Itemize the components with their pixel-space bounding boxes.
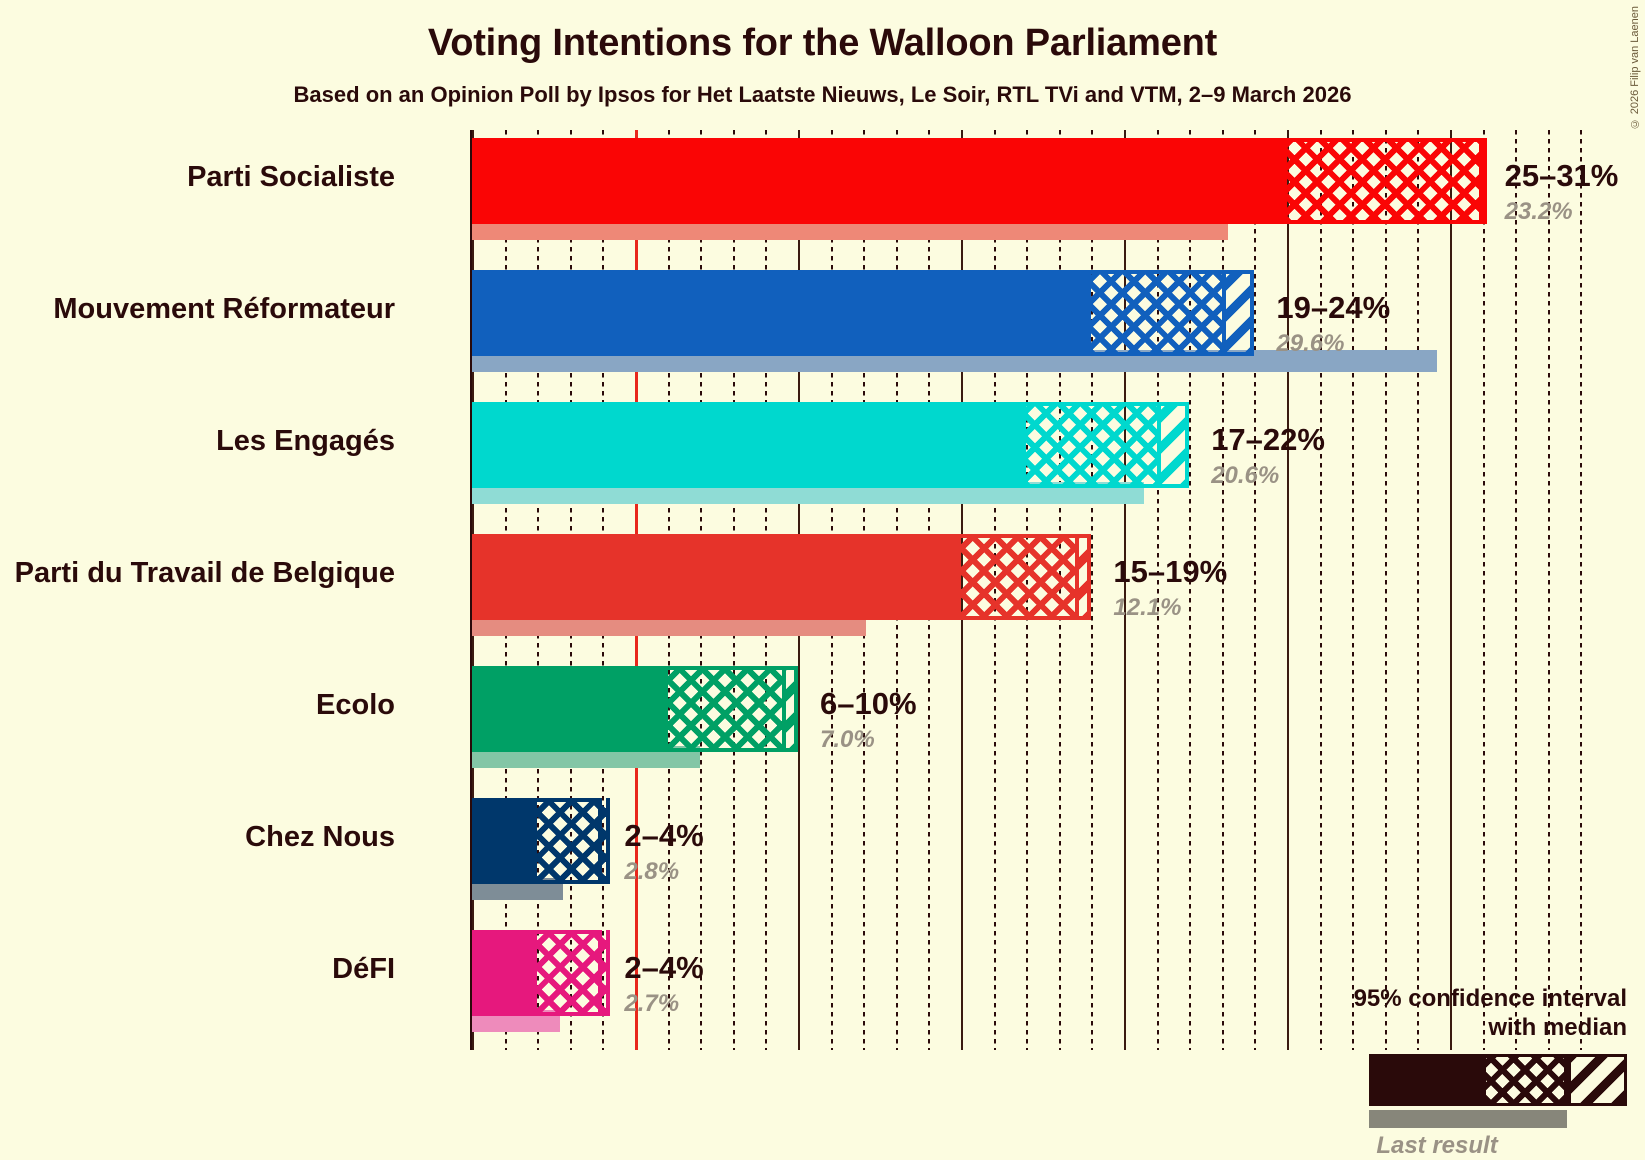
gridline-minor <box>1548 130 1550 1050</box>
gridline-minor <box>1483 130 1485 1050</box>
legend-ci-bar <box>1369 1054 1627 1106</box>
gridline-minor <box>1385 130 1387 1050</box>
legend-last-result-bar <box>1369 1110 1567 1128</box>
gridline-minor <box>1157 130 1159 1050</box>
legend-bar-wrapper: Last result <box>1232 1054 1627 1106</box>
bar-label-3: Les Engagés <box>216 425 395 458</box>
confidence-interval-bar <box>472 666 798 752</box>
legend-caption-line2: with median <box>1232 1014 1627 1042</box>
ci-range-label: 2–4% <box>624 950 703 986</box>
ci-bar-outline <box>472 402 1189 488</box>
chart-canvas: Voting Intentions for the Walloon Parlia… <box>0 0 1645 1114</box>
ci-bar-outline <box>472 930 602 1016</box>
last-result-label: 2.8% <box>624 858 679 886</box>
ci-bar-outline <box>472 534 1091 620</box>
bar-label-2: Mouvement Réformateur <box>53 293 395 326</box>
confidence-interval-bar <box>472 930 602 1016</box>
last-result-label: 2.7% <box>624 990 679 1018</box>
gridline-minor <box>1320 130 1322 1050</box>
ci-upper-band-segment <box>1483 138 1487 224</box>
gridline-minor <box>1352 130 1354 1050</box>
chart-subtitle: Based on an Opinion Poll by Ipsos for He… <box>0 82 1645 108</box>
bar-label-4: Parti du Travail de Belgique <box>15 557 395 590</box>
legend-caption-line1: 95% confidence interval <box>1232 985 1627 1013</box>
legend: 95% confidence interval with median Last… <box>1232 985 1627 1106</box>
gridline-minor <box>1254 130 1256 1050</box>
page-title: Voting Intentions for the Walloon Parlia… <box>0 22 1645 65</box>
last-result-label: 29.6% <box>1276 330 1344 358</box>
confidence-interval-bar <box>472 138 1483 224</box>
last-result-label: 23.2% <box>1505 198 1573 226</box>
ci-range-label: 15–19% <box>1113 554 1227 590</box>
last-result-label: 20.6% <box>1211 462 1279 490</box>
confidence-interval-bar <box>472 534 1091 620</box>
gridline-minor <box>1580 130 1582 1050</box>
ci-range-label: 2–4% <box>624 818 703 854</box>
gridline-major <box>1287 130 1289 1050</box>
gridline-major <box>1450 130 1452 1050</box>
legend-last-result-label: Last result <box>1307 1132 1567 1160</box>
ci-upper-band-segment <box>606 798 610 884</box>
last-result-label: 7.0% <box>820 726 875 754</box>
confidence-interval-bar <box>472 270 1254 356</box>
last-result-label: 12.1% <box>1113 594 1181 622</box>
ci-range-label: 25–31% <box>1505 158 1619 194</box>
ci-range-label: 19–24% <box>1276 290 1390 326</box>
gridline-minor <box>1222 130 1224 1050</box>
bar-label-1: Parti Socialiste <box>187 161 395 194</box>
bar-label-6: Chez Nous <box>245 821 395 854</box>
plot-area: Parti Socialiste25–31%23.2%Mouvement Réf… <box>472 130 1582 1050</box>
ci-bar-outline <box>472 666 798 752</box>
bar-label-7: DéFI <box>332 953 395 986</box>
gridline-minor <box>1515 130 1517 1050</box>
gridline-minor <box>1189 130 1191 1050</box>
legend-upper-band-icon <box>1568 1057 1624 1103</box>
confidence-interval-bar <box>472 402 1189 488</box>
ci-range-label: 6–10% <box>820 686 917 722</box>
confidence-interval-bar <box>472 798 602 884</box>
gridline-major <box>1124 130 1126 1050</box>
legend-median-band-icon <box>1486 1057 1564 1103</box>
gridline-minor <box>1091 130 1093 1050</box>
ci-bar-outline <box>472 798 602 884</box>
ci-upper-band-segment <box>606 930 610 1016</box>
gridline-minor <box>1417 130 1419 1050</box>
bar-label-5: Ecolo <box>316 689 395 722</box>
ci-bar-outline <box>472 138 1483 224</box>
ci-bar-outline <box>472 270 1254 356</box>
copyright-notice: © 2026 Filip van Laenen <box>1629 6 1641 129</box>
ci-range-label: 17–22% <box>1211 422 1325 458</box>
legend-caption: 95% confidence interval with median <box>1232 985 1627 1042</box>
